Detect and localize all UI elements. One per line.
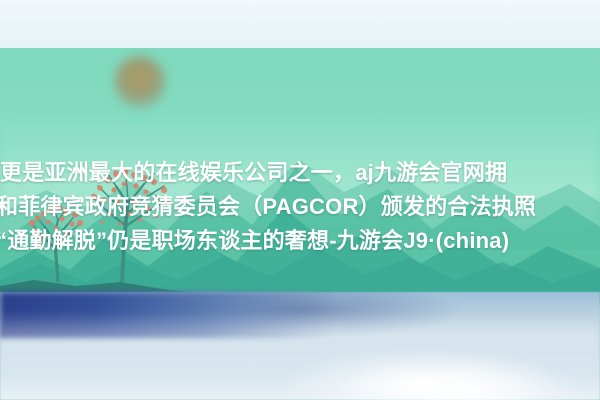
banner-image: 更是亚洲最大的在线娱乐公司之一，aj九游会官网拥 和菲律宾政府竞猜委员会（PAG…: [0, 0, 600, 400]
sky-band: [0, 0, 600, 48]
sun-icon: [114, 56, 166, 108]
overlay-text-block: 更是亚洲最大的在线娱乐公司之一，aj九游会官网拥 和菲律宾政府竞猜委员会（PAG…: [0, 156, 600, 258]
overlay-text-line-3: “通勤解脱”仍是职场东谈主的奢想-九游会J9·(china): [0, 224, 600, 258]
water-mist-streak: [0, 312, 600, 370]
overlay-text-line-2: 和菲律宾政府竞猜委员会（PAGCOR）颁发的合法执照: [0, 190, 600, 224]
overlay-text-line-1: 更是亚洲最大的在线娱乐公司之一，aj九游会官网拥: [0, 156, 600, 190]
